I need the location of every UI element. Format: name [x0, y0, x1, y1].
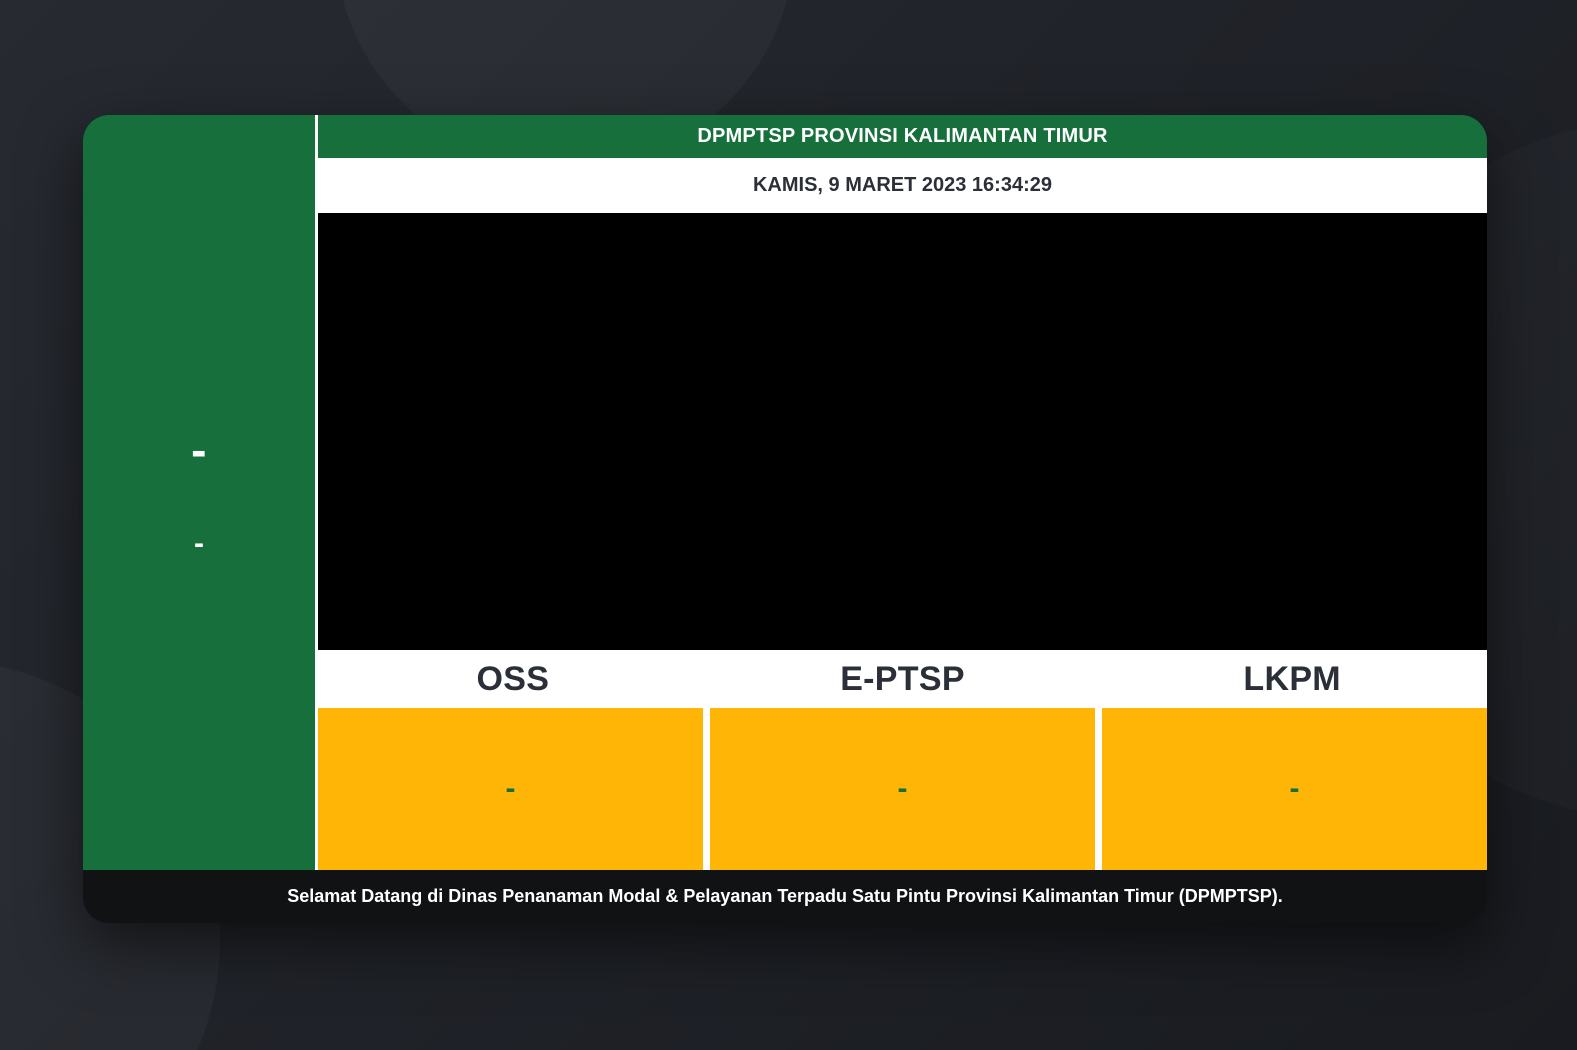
footer-marquee-text: Selamat Datang di Dinas Penanaman Modal …: [287, 886, 1283, 907]
page-title: DPMPTSP PROVINSI KALIMANTAN TIMUR: [697, 125, 1107, 148]
tab-panel-eptsp[interactable]: -: [710, 708, 1095, 870]
kiosk-display-frame: - - DPMPTSP PROVINSI KALIMANTAN TIMUR KA…: [83, 115, 1487, 923]
datetime-bar: KAMIS, 9 MARET 2023 16:34:29: [318, 158, 1487, 213]
tab-label-lkpm[interactable]: LKPM: [1097, 650, 1487, 708]
app-header: DPMPTSP PROVINSI KALIMANTAN TIMUR: [318, 115, 1487, 158]
service-tab-label-row: OSS E-PTSP LKPM: [318, 650, 1487, 708]
queue-caption-display: -: [194, 529, 204, 559]
tab-panel-lkpm[interactable]: -: [1102, 708, 1487, 870]
tab-label-oss[interactable]: OSS: [318, 650, 708, 708]
content-column: DPMPTSP PROVINSI KALIMANTAN TIMUR KAMIS,…: [318, 115, 1487, 870]
footer-marquee: Selamat Datang di Dinas Penanaman Modal …: [83, 870, 1487, 923]
kiosk-body: - - DPMPTSP PROVINSI KALIMANTAN TIMUR KA…: [83, 115, 1487, 870]
current-datetime: KAMIS, 9 MARET 2023 16:34:29: [753, 174, 1052, 197]
service-tab-panel-row: - - -: [318, 708, 1487, 870]
media-stage[interactable]: [318, 213, 1487, 650]
queue-number-display: -: [191, 427, 207, 473]
tab-panel-oss[interactable]: -: [318, 708, 703, 870]
queue-sidebar: - -: [83, 115, 315, 870]
tab-label-eptsp[interactable]: E-PTSP: [708, 650, 1098, 708]
